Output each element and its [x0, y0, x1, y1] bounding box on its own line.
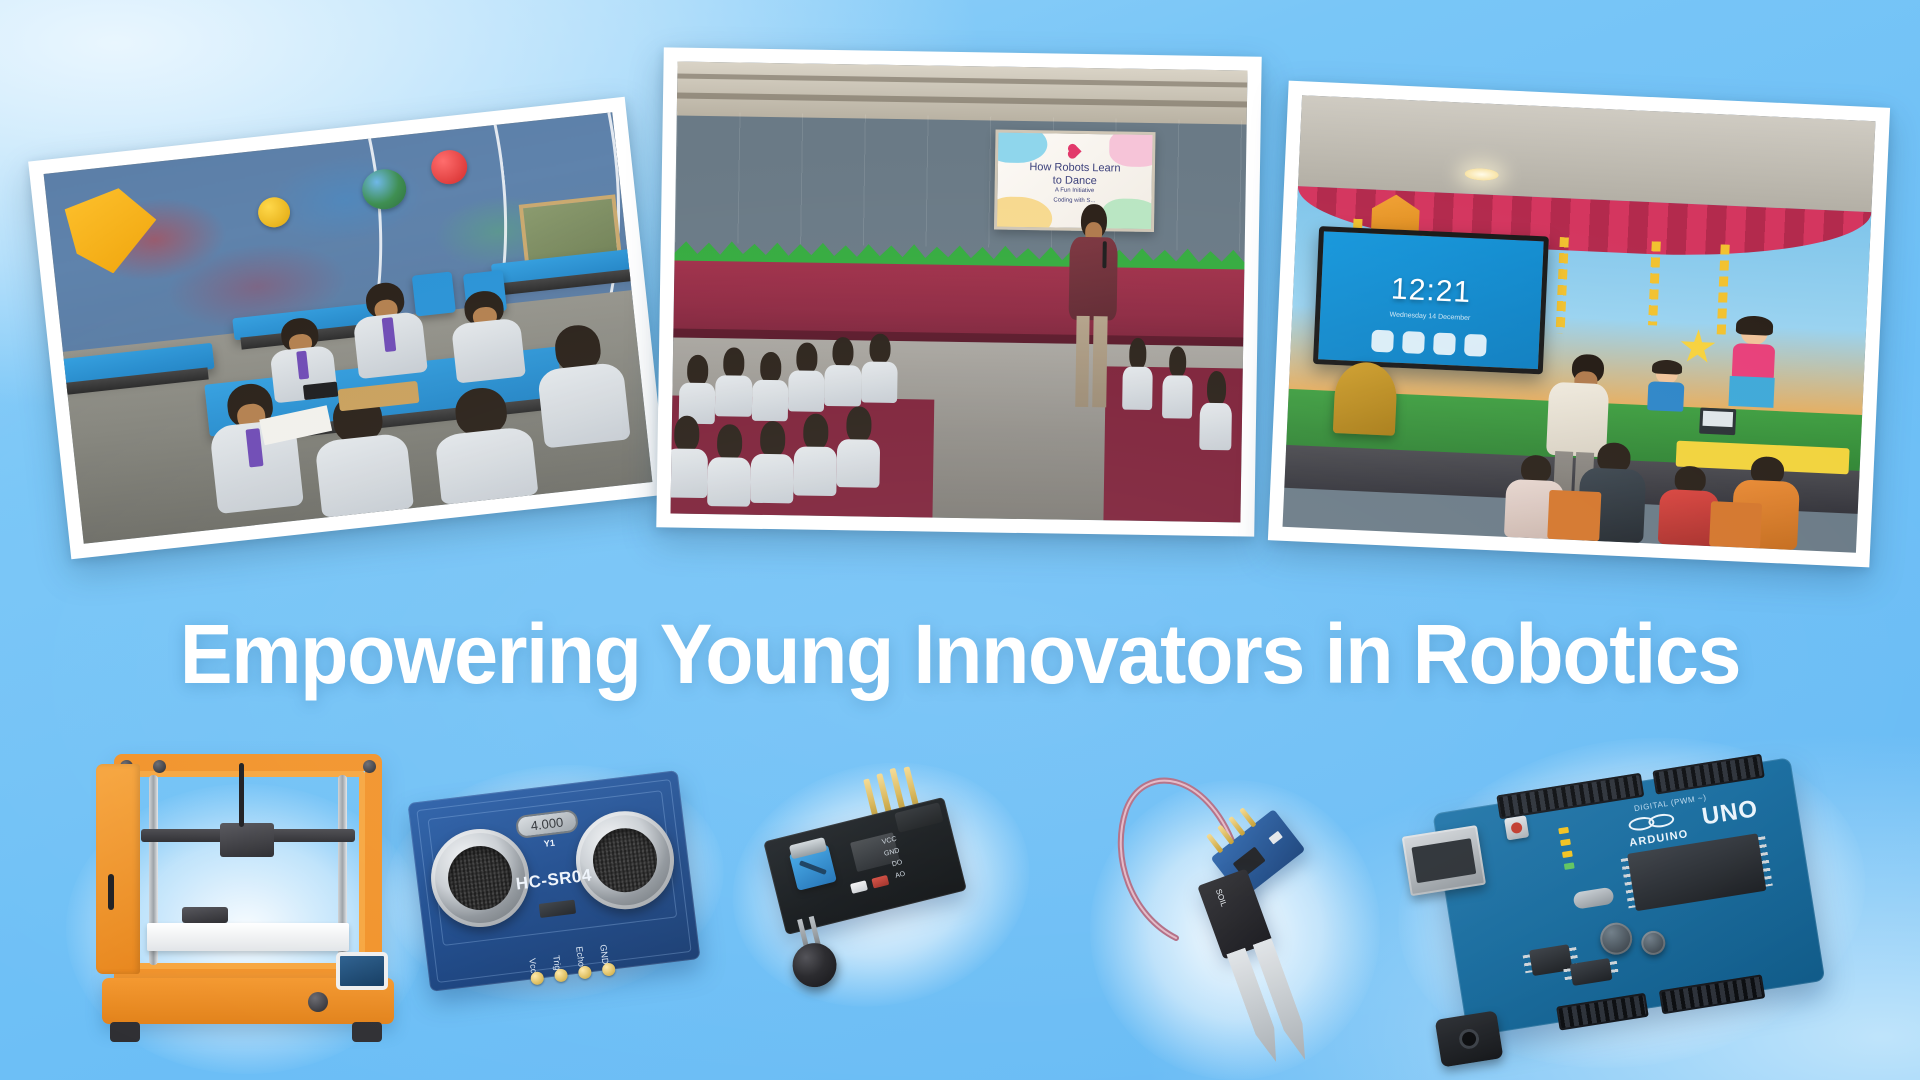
printer-side-vent [108, 874, 114, 910]
printer-bolt [153, 760, 166, 773]
laptop [1699, 407, 1736, 435]
module-led [1268, 831, 1282, 845]
silk-label-do: DO [891, 859, 903, 868]
silk-text-digital: DIGITAL (PWM ~) [1633, 793, 1707, 813]
audience-child [836, 406, 880, 488]
printer-control-knob[interactable] [308, 992, 328, 1012]
audience [1489, 424, 1861, 553]
audience [670, 310, 1004, 519]
audience-child [824, 337, 861, 407]
power-pin-header[interactable] [1556, 993, 1649, 1031]
audience-child [1122, 338, 1153, 410]
presenter [1060, 203, 1126, 412]
analog-pin-header[interactable] [1659, 974, 1765, 1014]
smartboard-dock[interactable] [1371, 329, 1487, 356]
model-label: UNO [1700, 795, 1760, 831]
student [349, 279, 427, 379]
crystal-reference-label: Y1 [543, 838, 555, 849]
printer-base [102, 978, 394, 1024]
photo-image: 12:21 Wednesday 14 December [1282, 95, 1875, 553]
audience-child [679, 355, 716, 425]
status-led-tx [1558, 827, 1569, 834]
chair [1548, 489, 1602, 541]
probe-label: SOIL [1214, 888, 1229, 908]
cartoon-boy-mural [1639, 361, 1692, 429]
audience-child [751, 352, 788, 422]
sensor-pcb: VCC GND DO AO [763, 797, 967, 935]
infinity-logo-icon [1647, 812, 1675, 829]
files-icon[interactable] [1433, 332, 1456, 355]
audience-child [750, 421, 794, 503]
crystal-oscillator [1572, 887, 1614, 910]
ir-photodiode [788, 938, 841, 991]
browser-icon[interactable] [1402, 331, 1425, 354]
audience-child [861, 333, 898, 403]
printer-lcd-screen[interactable] [336, 952, 388, 990]
slide-subtitle-line-1: A Fun Initiative [998, 187, 1152, 196]
solder-pad [601, 962, 615, 976]
cartoon-girl-mural [1720, 318, 1786, 409]
infrared-flame-sensor-module: VCC GND DO AO [738, 751, 1012, 1010]
audience [1115, 322, 1243, 523]
pin-header [894, 802, 943, 833]
solder-pad [554, 968, 568, 982]
banner-root: How Robots Learn to Dance A Fun Initiati… [0, 0, 1920, 1080]
printer-filament-tube [239, 763, 244, 827]
printer-print-bed [147, 923, 349, 951]
audience-child [670, 416, 708, 498]
audience-child [788, 342, 825, 412]
usb-b-connector[interactable] [1402, 825, 1486, 896]
page-title: Empowering Young Innovators in Robotics [58, 612, 1863, 696]
scene-classroom [44, 112, 653, 544]
heart-icon [1069, 145, 1082, 158]
printer-extruder-head [220, 823, 274, 857]
status-led-on [1564, 862, 1575, 869]
student [448, 287, 526, 383]
printer-side-panel [96, 764, 140, 974]
audience-child [715, 347, 752, 417]
digital-pin-header[interactable] [1496, 773, 1644, 820]
electrolytic-capacitor [1598, 920, 1635, 957]
hardware-showcase-row: 4.000 Y1 HC-SR04 Vcc Trig Echo GND [0, 730, 1920, 1080]
classroom-robotics-build-photo [28, 97, 668, 559]
reset-button[interactable] [1504, 815, 1529, 840]
smartboard-demo-photo: 12:21 Wednesday 14 December [1268, 81, 1890, 568]
printer-foot [110, 1022, 140, 1042]
audience-child [1162, 346, 1193, 418]
audience-child [707, 425, 751, 507]
microphone-icon [1102, 241, 1107, 268]
3d-printer [96, 754, 396, 1050]
settings-icon[interactable] [1464, 333, 1487, 356]
assembly-presentation-photo: How Robots Learn to Dance A Fun Initiati… [656, 47, 1261, 536]
scene-smartboard-hall: 12:21 Wednesday 14 December [1282, 95, 1875, 553]
solder-pad [530, 971, 544, 985]
silk-label-ao: AO [895, 871, 907, 880]
power-led [850, 880, 868, 894]
sensor-pcb: 4.000 Y1 HC-SR04 Vcc Trig Echo GND [407, 770, 700, 992]
scene-assembly-hall: How Robots Learn to Dance A Fun Initiati… [670, 62, 1247, 523]
board-pcb: ARDUINO UNO DIGITAL (PWM ~) [1432, 757, 1825, 1037]
audience-child [793, 414, 837, 496]
slide-decoration [994, 130, 1048, 164]
photo-image [44, 112, 653, 544]
voltage-regulator [1570, 958, 1613, 986]
audience-child [1199, 371, 1233, 451]
student [430, 383, 539, 504]
interactive-smartboard[interactable]: 12:21 Wednesday 14 December [1313, 226, 1549, 375]
dc-power-jack[interactable] [1435, 1010, 1504, 1067]
arduino-uno-board: ARDUINO UNO DIGITAL (PWM ~) [1399, 717, 1861, 1079]
photo-collage: How Robots Learn to Dance A Fun Initiati… [0, 0, 1920, 620]
whiteboard-icon[interactable] [1371, 329, 1394, 352]
signal-led [871, 875, 889, 889]
student [205, 379, 304, 514]
status-led-rx [1560, 839, 1571, 846]
blue-stage-backdrop [675, 111, 1247, 251]
digital-pin-header-2[interactable] [1652, 754, 1764, 795]
printer-carriage [182, 907, 228, 923]
ultrasonic-sensor-module: 4.000 Y1 HC-SR04 Vcc Trig Echo GND [407, 770, 700, 992]
solder-pad [578, 965, 592, 979]
printer-foot [352, 1022, 382, 1042]
student [532, 321, 630, 449]
smartboard-clock: 12:21 [1321, 269, 1542, 313]
electrolytic-capacitor [1640, 929, 1667, 956]
printer-bolt [363, 760, 376, 773]
chair [1709, 501, 1762, 548]
photo-image: How Robots Learn to Dance A Fun Initiati… [670, 62, 1247, 523]
slide-decoration [1109, 130, 1156, 167]
soil-moisture-sensor: SOIL [1110, 740, 1350, 1070]
status-led-l [1562, 851, 1573, 858]
